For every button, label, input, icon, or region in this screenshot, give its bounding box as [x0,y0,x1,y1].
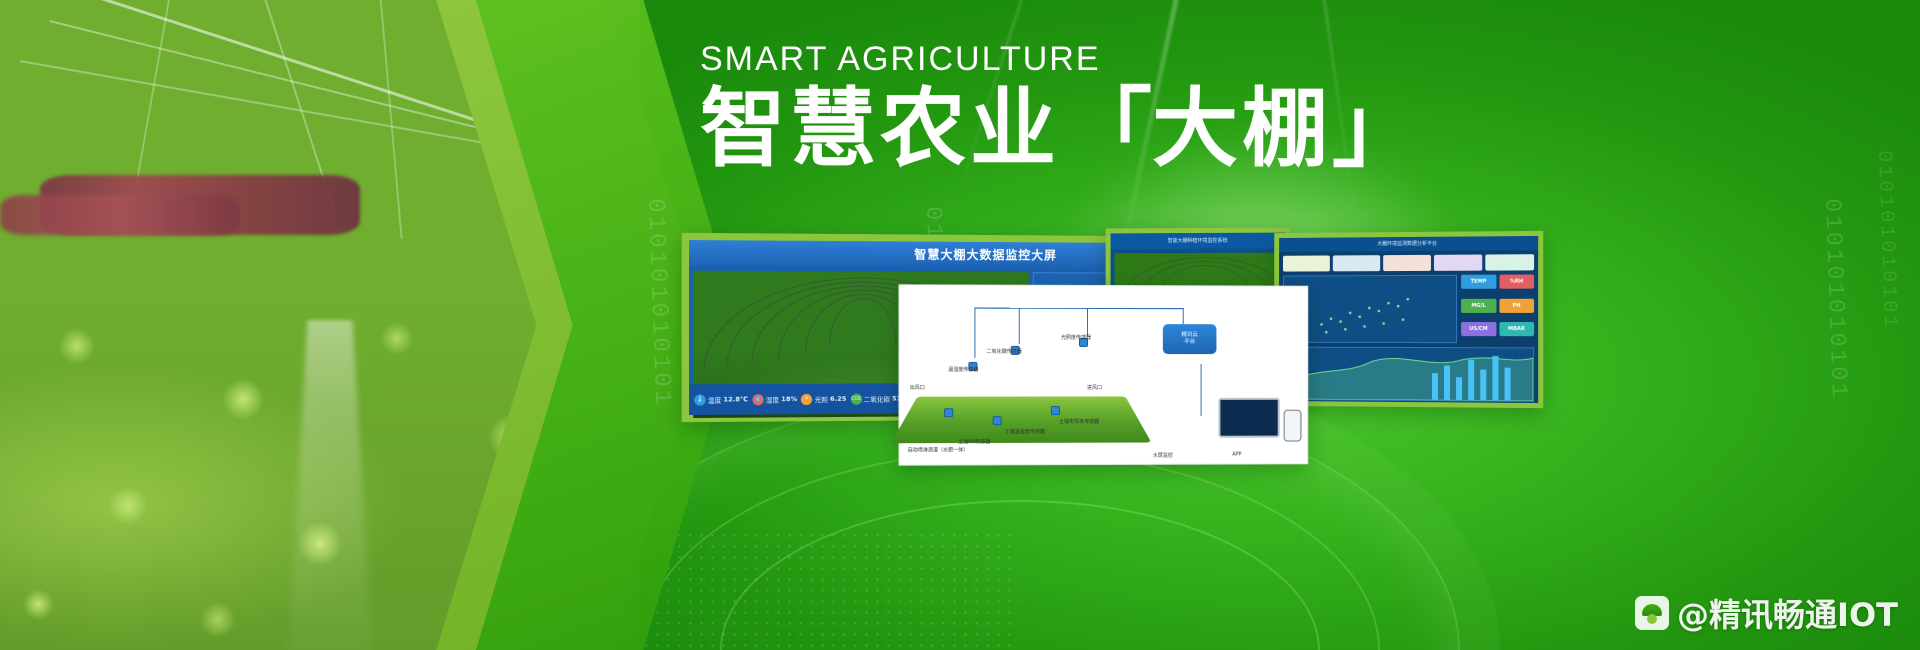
unit-chip[interactable]: PH [1499,298,1534,312]
label-light-sensor: 光照度传感器 [1061,334,1091,341]
label-soil-temp-humidity-sensor: 土壤温湿度传感器 [1005,428,1045,435]
sensor-unit-chips: TEMP %RH MG/L PH US/CM MBAR [1461,274,1534,343]
kpi-tile[interactable] [1383,255,1431,271]
label-air-inlet: 进风口 [1087,384,1102,391]
label-co2-sensor: 二氧化碳传感器 [987,348,1022,355]
reading-name: 光照 [815,394,828,404]
sun-icon: ☀ [801,393,812,404]
thermometer-icon: 🌡 [694,394,705,405]
reading-value: 12.8℃ [723,395,748,403]
kpi-tile[interactable] [1333,255,1380,271]
monitor-illustration [1218,398,1279,438]
reading-temperature[interactable]: 🌡 温度 12.8℃ [694,394,748,406]
label-irrigation: 自动喷淋滴灌（水肥一体） [908,446,969,453]
watermark-handle: @精讯畅通IOT [1677,590,1898,636]
unit-chip[interactable]: MBAR [1499,322,1534,336]
phone-illustration [1284,410,1302,442]
dashboard-collage: 智慧大棚大数据监控大屏 1号大棚01号 🔊 ☰ ▦ ⤢ ⏻ [0,0,1920,650]
sensor-node [1051,406,1060,415]
reading-humidity[interactable]: 💧 湿度 18% [752,393,797,404]
sensor-node [993,416,1002,425]
droplet-icon: 💧 [752,394,763,405]
kpi-tile[interactable] [1283,255,1330,271]
reading-name: 湿度 [766,394,779,404]
scatter-svg [1284,276,1456,342]
reading-value: 18% [781,395,797,403]
field-plot [891,397,1152,444]
label-temp-humidity-sensor: 温湿度传感器 [948,366,978,373]
analytics-main: TEMP %RH MG/L PH US/CM MBAR [1279,274,1538,347]
dashboard3-title: 智能大棚种植环境监控系统 [1111,233,1286,250]
co2-icon: CO2 [850,393,861,404]
cloud-label-line1: 精讯云 [1181,332,1197,339]
unit-chip[interactable]: US/CM [1461,322,1496,336]
unit-chip[interactable]: %RH [1499,274,1534,288]
sensor-node [944,408,953,417]
dashboard-iot-diagram[interactable]: 二氧化碳传感器 光照度传感器 温湿度传感器 出风口 进风口 传输层 土壤PH传感… [898,284,1308,465]
label-big-screen-monitor: 大屏监控 [1153,452,1173,459]
kpi-tile[interactable] [1485,254,1534,270]
label-soil-ec-sensor: 土壤电导率传感器 [1059,418,1099,425]
unit-chip[interactable]: MG/L [1461,298,1496,312]
scatter-panel[interactable] [1283,275,1457,343]
cloud-platform-node[interactable]: 精讯云 平台 [1163,324,1217,354]
leaf-logo-icon [1635,596,1669,630]
label-app: APP [1232,452,1241,458]
bar-chart-panel[interactable] [1283,347,1534,402]
dashboard-analytics[interactable]: 大棚环境监测数据分析平台 [1274,231,1543,408]
cloud-label-line2: 平台 [1184,339,1195,346]
kpi-tile-row [1279,250,1538,275]
reading-name: 温度 [708,394,722,404]
reading-light[interactable]: ☀ 光照 6.25 [801,393,846,404]
label-soil-ph-sensor: 土壤PH传感器 [958,438,990,445]
reading-value: 6.25 [830,395,846,403]
label-air-outlet: 出风口 [910,384,925,391]
kpi-tile[interactable] [1434,255,1482,271]
watermark: @精讯畅通IOT [1635,590,1898,636]
reading-name: 二氧化碳 [864,393,890,403]
diagram-canvas: 二氧化碳传感器 光照度传感器 温湿度传感器 出风口 进风口 传输层 土壤PH传感… [899,285,1307,464]
bar-chart-svg [1284,348,1533,401]
unit-chip[interactable]: TEMP [1461,275,1496,289]
smart-agriculture-banner: 010101010101 010101010101 010101010101 0… [0,0,1920,650]
